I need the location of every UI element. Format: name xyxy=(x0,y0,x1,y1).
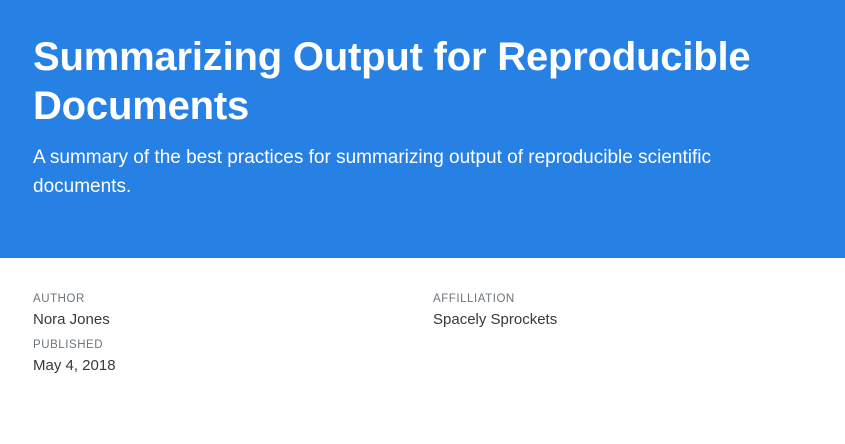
document-header-page: Summarizing Output for Reproducible Docu… xyxy=(0,0,845,444)
published-value: May 4, 2018 xyxy=(33,355,433,378)
document-metadata: AUTHOR Nora Jones PUBLISHED May 4, 2018 … xyxy=(0,258,845,377)
metadata-column-affiliation: AFFILLIATION Spacely Sprockets xyxy=(433,292,793,331)
author-value: Nora Jones xyxy=(33,309,433,332)
affiliation-label: AFFILLIATION xyxy=(433,292,793,308)
title-banner: Summarizing Output for Reproducible Docu… xyxy=(0,0,845,258)
metadata-column-author: AUTHOR Nora Jones PUBLISHED May 4, 2018 xyxy=(33,292,433,377)
published-label: PUBLISHED xyxy=(33,338,433,354)
page-title: Summarizing Output for Reproducible Docu… xyxy=(33,33,793,131)
metadata-grid: AUTHOR Nora Jones PUBLISHED May 4, 2018 … xyxy=(33,292,793,377)
page-subtitle: A summary of the best practices for summ… xyxy=(33,143,793,202)
author-label: AUTHOR xyxy=(33,292,433,308)
affiliation-value: Spacely Sprockets xyxy=(433,309,793,332)
